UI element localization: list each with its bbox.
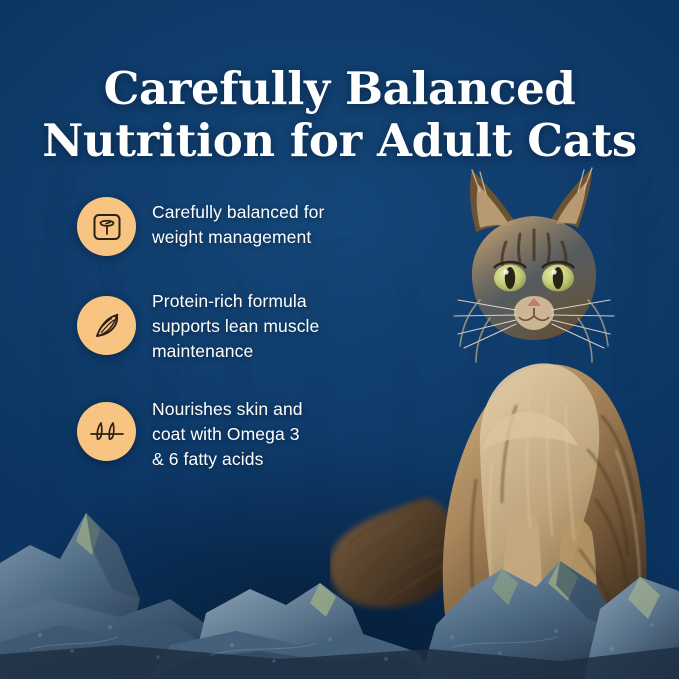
feature-line: Protein-rich formula <box>152 289 319 314</box>
feature-text-protein: Protein-rich formula supports lean muscl… <box>152 286 319 364</box>
feature-line: maintenance <box>152 339 319 364</box>
feature-line: Nourishes skin and <box>152 397 303 422</box>
page-title-line-2: Nutrition for Adult Cats <box>0 115 679 167</box>
muscle-icon <box>77 296 136 355</box>
page-title-line-1: Carefully Balanced <box>104 62 576 115</box>
feature-line: supports lean muscle <box>152 314 319 339</box>
skin-and-coat-icon <box>77 402 136 461</box>
feature-text-weight-management: Carefully balanced for weight management <box>152 197 324 250</box>
rock-foreground <box>0 449 679 679</box>
feature-item-skin-coat: Nourishes skin and coat with Omega 3 & 6… <box>77 394 377 472</box>
feature-line: & 6 fatty acids <box>152 447 303 472</box>
feature-item-protein: Protein-rich formula supports lean muscl… <box>77 286 377 364</box>
feature-line: weight management <box>152 225 324 250</box>
feature-line: coat with Omega 3 <box>152 422 303 447</box>
feature-list: Carefully balanced for weight management… <box>77 197 377 472</box>
feature-line: Carefully balanced for <box>152 200 324 225</box>
feature-item-weight-management: Carefully balanced for weight management <box>77 197 377 256</box>
weight-scale-icon <box>77 197 136 256</box>
page-title: Carefully Balanced Nutrition for Adult C… <box>0 63 679 167</box>
banner-canvas: Carefully Balanced Nutrition for Adult C… <box>0 0 679 679</box>
feature-text-skin-coat: Nourishes skin and coat with Omega 3 & 6… <box>152 394 303 472</box>
